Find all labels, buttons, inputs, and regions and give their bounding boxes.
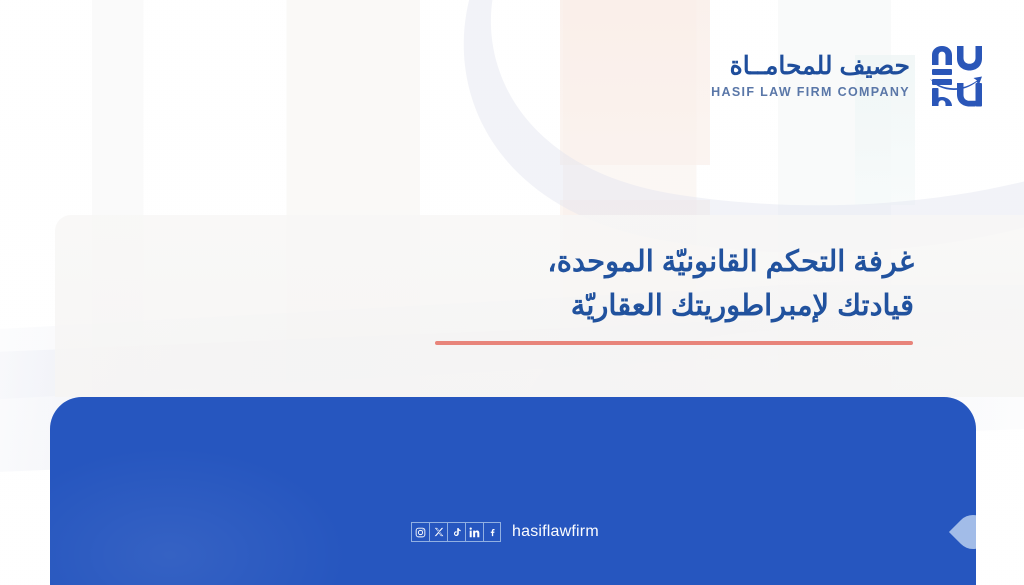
facebook-icon[interactable] xyxy=(483,522,501,542)
brand-lockup: حصيف للمحامــاة HASIF LAW FIRM COMPANY xyxy=(711,45,982,107)
instagram-icon[interactable] xyxy=(411,522,429,542)
headline-line-1: غرفة التحكم القانونيّة الموحدة، xyxy=(94,240,914,284)
social-strip: hasiflawfirm xyxy=(411,522,599,542)
tiktok-icon[interactable] xyxy=(447,522,465,542)
footer-panel xyxy=(50,397,976,585)
social-handle: hasiflawfirm xyxy=(512,523,599,541)
linkedin-icon[interactable] xyxy=(465,522,483,542)
headline-block: غرفة التحكم القانونيّة الموحدة، قيادتك ل… xyxy=(94,240,914,328)
hasif-monogram-icon xyxy=(926,45,982,107)
brand-wordmark: حصيف للمحامــاة HASIF LAW FIRM COMPANY xyxy=(711,54,910,99)
headline-underline-rule xyxy=(435,341,913,345)
brand-name-english: HASIF LAW FIRM COMPANY xyxy=(711,86,910,99)
x-twitter-icon[interactable] xyxy=(429,522,447,542)
headline-line-2: قيادتك لإمبراطوريتك العقاريّة xyxy=(94,284,914,328)
social-icon-row xyxy=(411,522,501,542)
background-warm-block-top xyxy=(560,0,710,165)
marketing-poster: حصيف للمحامــاة HASIF LAW FIRM COMPANY xyxy=(0,0,1024,585)
brand-name-arabic: حصيف للمحامــاة xyxy=(711,54,910,79)
panel-glow xyxy=(50,445,350,585)
panel-edge-accent xyxy=(949,508,976,556)
